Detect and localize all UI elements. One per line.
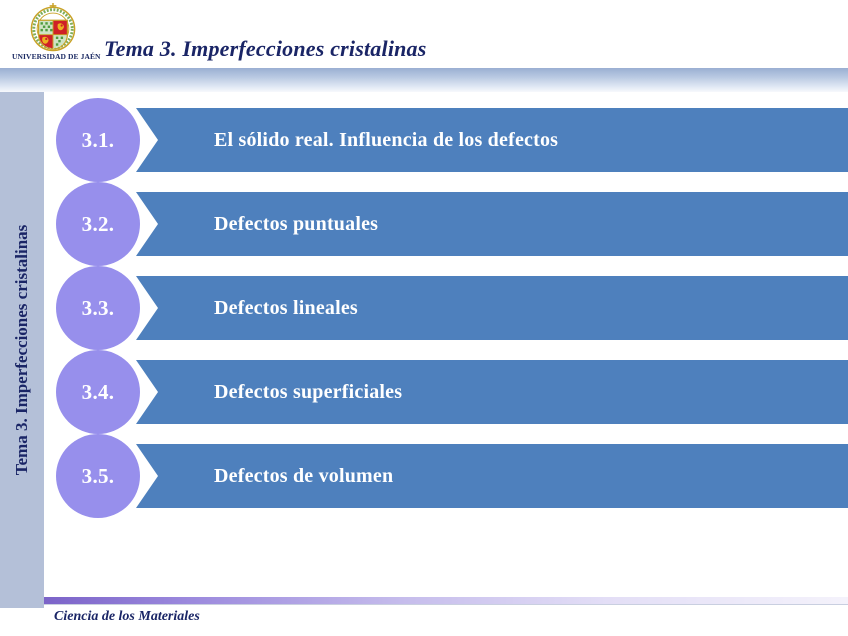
agenda-row-bar[interactable]: El sólido real. Influencia de los defect… [136, 108, 848, 172]
agenda-row-label: Defectos de volumen [214, 465, 393, 488]
agenda-row-bar[interactable]: Defectos puntuales [136, 192, 848, 256]
agenda-row-number[interactable]: 3.5. [56, 434, 140, 518]
university-wordmark: UNIVERSIDAD DE JAÉN [12, 52, 94, 61]
university-logo: UNIVERSIDAD DE JAÉN [12, 2, 94, 66]
slide-header: UNIVERSIDAD DE JAÉN Tema 3. Imperfeccion… [0, 0, 848, 68]
agenda-row-label: El sólido real. Influencia de los defect… [214, 129, 558, 152]
sidebar-vertical-title: Tema 3. Imperfecciones cristalinas [0, 92, 44, 608]
footer-gradient-band [44, 597, 848, 604]
university-crest-icon [29, 2, 77, 52]
slide-footer: Ciencia de los Materiales [44, 605, 848, 636]
agenda-row-number[interactable]: 3.2. [56, 182, 140, 266]
agenda-row-bar[interactable]: Defectos de volumen [136, 444, 848, 508]
agenda-row-bar[interactable]: Defectos superficiales [136, 360, 848, 424]
page-title: Tema 3. Imperfecciones cristalinas [104, 36, 427, 62]
slide-content: El sólido real. Influencia de los defect… [44, 92, 848, 608]
footer-course-title: Ciencia de los Materiales [54, 609, 200, 625]
agenda-row-label: Defectos superficiales [214, 381, 402, 404]
agenda-row-number[interactable]: 3.3. [56, 266, 140, 350]
agenda-row-number[interactable]: 3.4. [56, 350, 140, 434]
header-gradient-band [0, 68, 848, 92]
vertical-sidebar: Tema 3. Imperfecciones cristalinas [0, 92, 44, 608]
agenda-row-bar[interactable]: Defectos lineales [136, 276, 848, 340]
agenda-row-number[interactable]: 3.1. [56, 98, 140, 182]
agenda-row-label: Defectos puntuales [214, 213, 378, 236]
agenda-row-label: Defectos lineales [214, 297, 358, 320]
